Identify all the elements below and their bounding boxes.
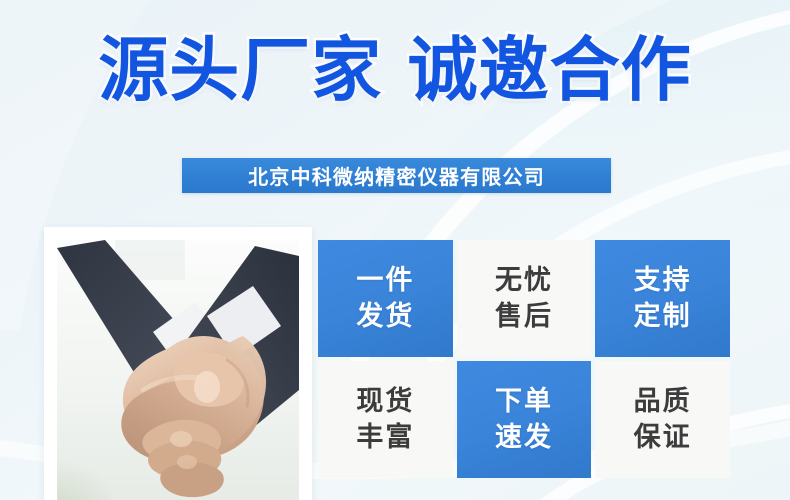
feature-cell-4-line2: 丰富 — [356, 420, 414, 456]
feature-cell-1-line2: 发货 — [356, 299, 414, 335]
handshake-photo — [57, 240, 299, 500]
feature-cell-2-line2: 售后 — [495, 299, 553, 335]
headline-container: 源头厂家 诚邀合作 — [0, 34, 790, 108]
promo-banner: 源头厂家 诚邀合作 北京中科微纳精密仪器有限公司 — [0, 0, 790, 500]
feature-cell-3-line1: 支持 — [634, 263, 692, 299]
feature-cell-5-line2: 速发 — [495, 420, 553, 456]
handshake-photo-card — [44, 227, 312, 500]
feature-cell-6-line2: 保证 — [634, 420, 692, 456]
feature-cell-6-line1: 品质 — [634, 384, 692, 420]
feature-cell-5-line1: 下单 — [495, 384, 553, 420]
feature-cell-2: 无忧 售后 — [457, 240, 592, 357]
feature-cell-3: 支持 定制 — [595, 240, 730, 357]
company-name-bar: 北京中科微纳精密仪器有限公司 — [182, 158, 611, 193]
feature-cell-6: 品质 保证 — [595, 361, 730, 478]
feature-cell-5: 下单 速发 — [457, 361, 592, 478]
feature-cell-4: 现货 丰富 — [318, 361, 453, 478]
feature-cell-1-line1: 一件 — [356, 263, 414, 299]
feature-cell-1: 一件 发货 — [318, 240, 453, 357]
feature-cell-3-line2: 定制 — [634, 299, 692, 335]
page-title: 源头厂家 诚邀合作 — [98, 34, 691, 108]
feature-cell-4-line1: 现货 — [356, 384, 414, 420]
company-name-label: 北京中科微纳精密仪器有限公司 — [248, 161, 545, 190]
feature-grid: 一件 发货 无忧 售后 支持 定制 现货 丰富 下单 速发 品质 保证 — [318, 240, 730, 478]
feature-cell-2-line1: 无忧 — [495, 263, 553, 299]
